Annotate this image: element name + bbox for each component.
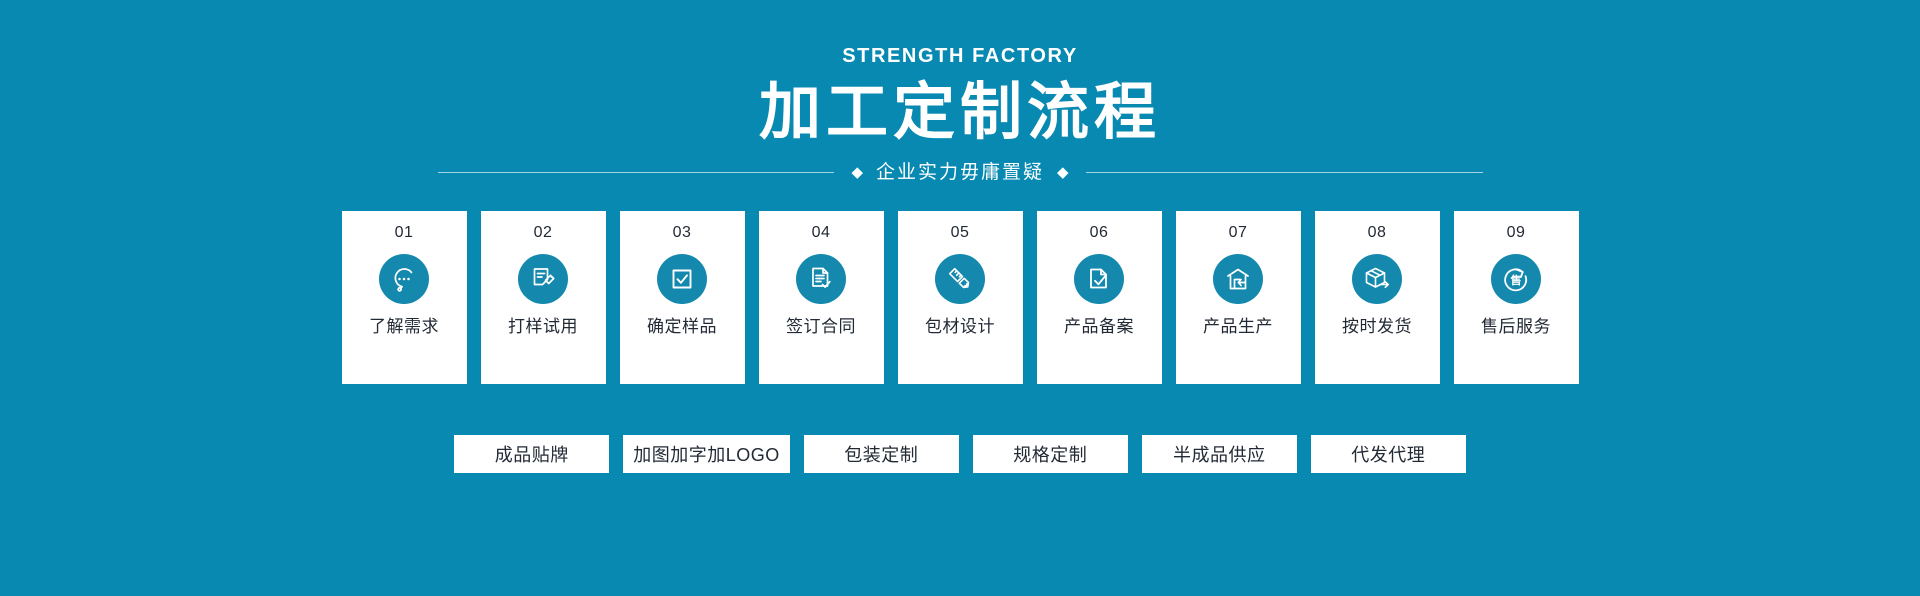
step-number: 01	[395, 225, 414, 241]
diamond-right-icon: ◆	[1057, 165, 1069, 180]
step-number: 04	[812, 225, 831, 241]
divider-line-left	[438, 172, 835, 173]
step-card[interactable]: 01 了解需求	[342, 211, 467, 384]
step-label: 售后服务	[1481, 318, 1551, 335]
banner-header: STRENGTH FACTORY 加工定制流程 ◆ 企业实力毋庸置疑 ◆	[0, 46, 1920, 182]
service-tag-list: 成品贴牌 加图加字加LOGO 包装定制 规格定制 半成品供应 代发代理	[454, 435, 1466, 473]
step-card[interactable]: 07 产品生产	[1176, 211, 1301, 384]
diamond-left-icon: ◆	[851, 165, 863, 180]
chat-bubble-icon	[379, 254, 429, 304]
step-label: 确定样品	[647, 318, 717, 335]
tag-button[interactable]: 规格定制	[973, 435, 1128, 473]
process-banner: STRENGTH FACTORY 加工定制流程 ◆ 企业实力毋庸置疑 ◆ 01	[0, 0, 1920, 596]
eyebrow-text: STRENGTH FACTORY	[842, 46, 1078, 66]
step-label: 打样试用	[508, 318, 578, 335]
pencil-ruler-icon	[935, 254, 985, 304]
step-label: 包材设计	[925, 318, 995, 335]
step-label: 了解需求	[369, 318, 439, 335]
tag-button[interactable]: 半成品供应	[1142, 435, 1297, 473]
step-number: 02	[534, 225, 553, 241]
process-steps: 01 了解需求 02	[342, 211, 1579, 384]
factory-icon	[1213, 254, 1263, 304]
document-tag-icon	[518, 254, 568, 304]
step-label: 签订合同	[786, 318, 856, 335]
step-label: 按时发货	[1342, 318, 1412, 335]
step-number: 08	[1368, 225, 1387, 241]
tag-button[interactable]: 包装定制	[804, 435, 959, 473]
step-card[interactable]: 02 打样试用	[481, 211, 606, 384]
step-card[interactable]: 06 产品备案	[1037, 211, 1162, 384]
step-card[interactable]: 04 签订合同	[759, 211, 884, 384]
step-label: 产品生产	[1203, 318, 1273, 335]
package-ship-icon	[1352, 254, 1402, 304]
tag-button[interactable]: 成品贴牌	[454, 435, 609, 473]
step-number: 06	[1090, 225, 1109, 241]
tag-button[interactable]: 加图加字加LOGO	[623, 435, 790, 473]
step-number: 09	[1507, 225, 1526, 241]
subtitle-group: ◆ 企业实力毋庸置疑 ◆	[834, 163, 1085, 182]
step-card[interactable]: 08 按时发货	[1315, 211, 1440, 384]
file-check-icon	[1074, 254, 1124, 304]
subtitle-text: 企业实力毋庸置疑	[876, 163, 1044, 182]
step-card[interactable]: 05 包材设计	[898, 211, 1023, 384]
step-card[interactable]: 09 售 售后服务	[1454, 211, 1579, 384]
step-label: 产品备案	[1064, 318, 1134, 335]
page-title: 加工定制流程	[759, 78, 1161, 147]
tag-button[interactable]: 代发代理	[1311, 435, 1466, 473]
subtitle-divider: ◆ 企业实力毋庸置疑 ◆	[438, 163, 1483, 182]
step-number: 07	[1229, 225, 1248, 241]
checkbox-icon	[657, 254, 707, 304]
contract-check-icon	[796, 254, 846, 304]
step-number: 05	[951, 225, 970, 241]
svg-text:售: 售	[1510, 273, 1522, 287]
step-card[interactable]: 03 确定样品	[620, 211, 745, 384]
step-number: 03	[673, 225, 692, 241]
after-sales-refresh-icon: 售	[1491, 254, 1541, 304]
divider-line-right	[1086, 172, 1483, 173]
